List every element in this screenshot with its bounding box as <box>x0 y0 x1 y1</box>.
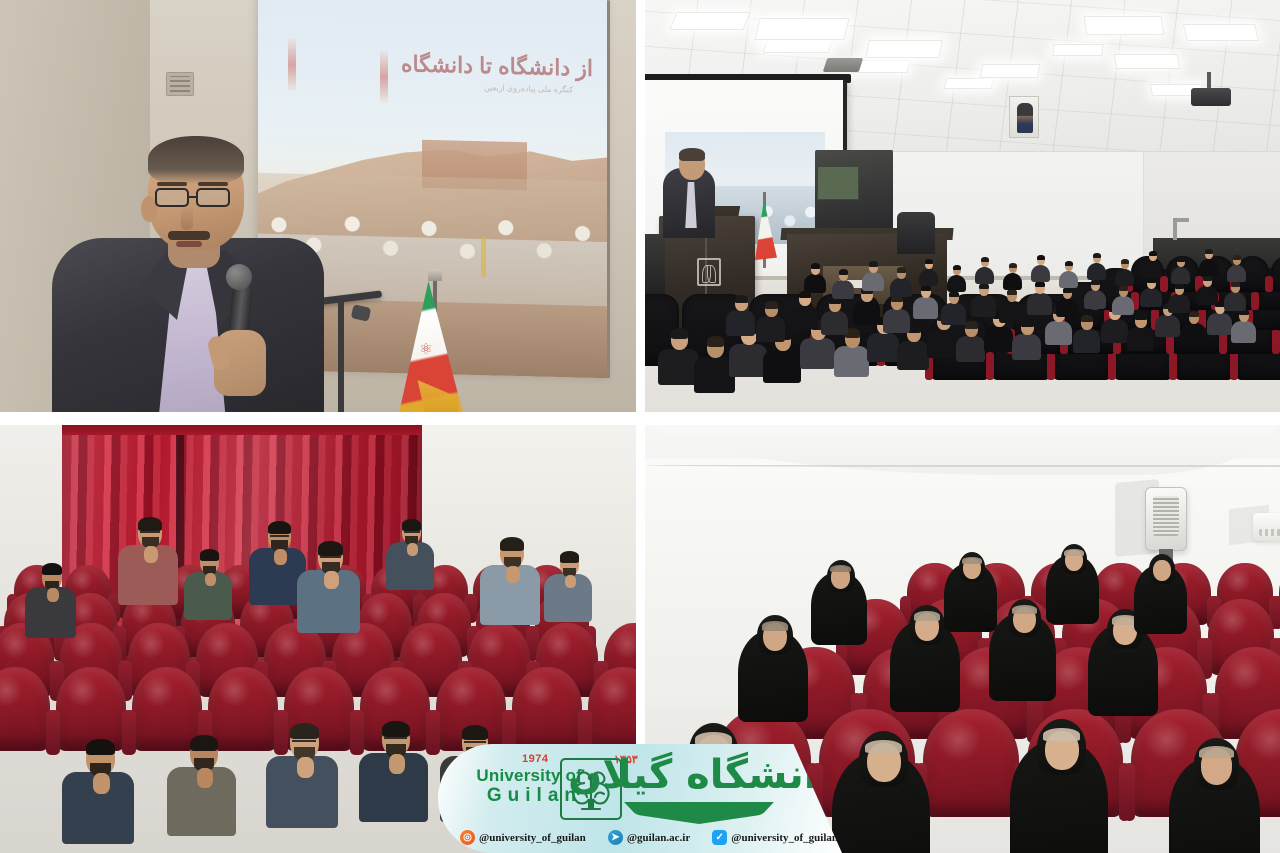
person-hair <box>1037 255 1045 260</box>
seat-armrest <box>986 352 994 380</box>
person-hair <box>1147 277 1156 283</box>
instagram-handle: @university_of_guilan <box>479 832 586 844</box>
auditorium-seat <box>0 667 50 751</box>
seat-highlight <box>446 674 478 708</box>
seat-armrest-left <box>277 710 288 755</box>
speaker-glasses-left <box>155 188 189 207</box>
person-hair <box>86 739 115 756</box>
person-hair <box>1233 255 1241 260</box>
person-torso <box>853 301 880 325</box>
person-hair <box>560 551 579 562</box>
iran-flag-finial <box>428 269 442 281</box>
seat-highlight <box>137 629 166 659</box>
person-hair <box>765 301 778 309</box>
headscarf-band <box>695 732 732 745</box>
person-torso <box>1101 319 1128 343</box>
speaker-glasses-right <box>196 188 230 207</box>
seat-highlight <box>142 674 174 708</box>
person-torso <box>862 272 884 291</box>
microphone-stand-pole <box>338 300 344 412</box>
podium-emblem <box>697 258 721 286</box>
ceiling-light <box>1183 24 1259 41</box>
seat-highlight <box>598 674 630 708</box>
person-torso <box>1155 315 1179 337</box>
person-hair <box>462 725 488 740</box>
person-hair <box>707 336 724 347</box>
person-glasses <box>320 556 341 561</box>
ceiling-light <box>762 38 833 53</box>
equipment-case <box>817 166 859 200</box>
person-torso <box>1112 296 1134 315</box>
seat-highlight <box>1144 718 1188 761</box>
seat-armrest <box>1251 292 1259 310</box>
person-hair <box>965 321 978 329</box>
person-torso <box>1168 294 1190 313</box>
person-torso <box>956 336 986 362</box>
photo-top-left: از دانشگاه تا دانشگاه کنگره ملی پیاده‌رو… <box>0 0 636 412</box>
person-hair <box>42 563 62 575</box>
person-torso <box>1127 327 1154 351</box>
person-hair <box>1177 257 1185 262</box>
social-telegram[interactable]: ➤ @guilan.ac.ir <box>608 830 690 845</box>
person-hand <box>389 754 405 774</box>
person-torso <box>984 326 1014 352</box>
person-hair <box>402 519 421 530</box>
person-hand <box>565 575 576 589</box>
seat-highlight <box>409 629 438 659</box>
person-hair <box>1065 261 1073 266</box>
person-hair <box>1035 281 1045 287</box>
person-torso <box>1087 263 1106 280</box>
person-torso <box>800 338 835 369</box>
person-hand <box>205 573 216 587</box>
person-torso <box>1231 321 1255 343</box>
seat-highlight <box>205 629 234 659</box>
person-torso <box>756 316 786 342</box>
person-torso <box>834 346 869 377</box>
person-hair <box>1091 279 1100 285</box>
person-torso <box>1115 269 1134 286</box>
person-torso <box>821 311 848 335</box>
seat-highlight <box>273 629 302 659</box>
person-torso <box>913 297 937 319</box>
person-torso <box>729 344 767 378</box>
person-torso <box>832 280 854 299</box>
person-torso <box>999 301 1023 323</box>
person-torso <box>1224 292 1246 311</box>
headscarf-band <box>865 740 902 753</box>
person-hair <box>318 541 343 556</box>
ceiling-light <box>754 18 849 40</box>
ceiling-light <box>669 12 750 30</box>
seat-armrest <box>1047 352 1055 380</box>
seat-highlight <box>1225 568 1251 593</box>
twitter-handle: @university_of_guilan <box>731 832 838 844</box>
instagram-icon: ◎ <box>460 830 475 845</box>
person-hair <box>1119 285 1128 291</box>
slide-yellow-banner <box>481 237 486 277</box>
person-torso <box>1199 259 1218 276</box>
person-hair <box>290 723 319 740</box>
person-glasses <box>384 737 407 743</box>
person-hair <box>500 537 524 551</box>
wall-speaker <box>1145 487 1187 551</box>
speaker-nose <box>181 206 193 230</box>
person-hair <box>869 261 878 267</box>
person-hair <box>1175 283 1184 289</box>
person-torso <box>947 275 966 292</box>
auditorium-seat <box>588 667 636 751</box>
person-torso <box>763 350 801 384</box>
person-hair <box>897 267 906 273</box>
person-torso <box>1181 323 1205 345</box>
person-torso <box>1031 265 1050 282</box>
seat-armrest-left <box>125 710 136 755</box>
person-hair <box>1063 287 1072 293</box>
air-conditioner-unit <box>1253 513 1280 541</box>
headscarf-band <box>1012 605 1037 614</box>
ceiling-light <box>1052 44 1103 56</box>
seat-highlight <box>1217 605 1247 635</box>
seat-highlight <box>370 674 402 708</box>
person-hair <box>268 521 291 534</box>
speaker-glasses-bridge <box>189 196 196 198</box>
person-torso <box>1056 298 1078 317</box>
seat-armrest <box>1169 352 1177 380</box>
headscarf-band <box>1199 746 1233 758</box>
person-hair <box>1121 259 1129 264</box>
person-hair <box>1203 275 1212 281</box>
social-twitter[interactable]: ✓ @university_of_guilan <box>712 830 838 845</box>
person-hand <box>93 773 110 793</box>
person-torso <box>726 310 756 336</box>
person-hair <box>1205 249 1213 254</box>
person-torso <box>883 309 910 333</box>
person-hair <box>1231 281 1240 287</box>
person-hair <box>979 283 989 289</box>
ceiling-air-diffuser <box>823 58 864 72</box>
person-hair <box>839 269 848 275</box>
person-hair <box>671 328 688 339</box>
ceiling-light <box>980 64 1040 78</box>
person-hand <box>47 588 59 602</box>
ceiling-projector <box>1191 88 1231 106</box>
social-handles: ◎ @university_of_guilan ➤ @guilan.ac.ir … <box>460 830 828 845</box>
headscarf-band <box>762 621 788 631</box>
person-hair <box>949 291 959 297</box>
person-glasses <box>140 531 160 536</box>
speaker-eyebrow-right <box>198 182 228 186</box>
person-hand <box>324 571 339 589</box>
social-instagram[interactable]: ◎ @university_of_guilan <box>460 830 586 845</box>
auditorium-seat <box>56 667 126 751</box>
wall-vent <box>166 72 194 96</box>
audience-seating-area <box>645 300 1280 412</box>
ceiling-light <box>1084 16 1165 35</box>
telegram-icon: ➤ <box>608 830 623 845</box>
seat-highlight <box>71 569 92 591</box>
speaker-hair <box>148 136 244 184</box>
curtain-valance <box>62 425 422 435</box>
founding-year-gregorian: 1974 <box>522 753 548 765</box>
person-torso <box>1207 313 1231 335</box>
seat-highlight <box>522 674 554 708</box>
person-hair <box>953 265 961 270</box>
person-hair <box>1149 251 1157 256</box>
person-hair <box>138 517 162 531</box>
person-glasses <box>292 740 316 746</box>
seat-armrest-left <box>49 710 60 755</box>
person-torso <box>1027 293 1051 315</box>
person-torso <box>804 274 826 293</box>
headscarf-band <box>962 557 982 564</box>
person-hand <box>506 566 520 583</box>
person-hair <box>1189 311 1199 317</box>
person-hand <box>407 543 418 557</box>
speaker-eyebrow-left <box>157 182 187 186</box>
person-hair <box>382 721 410 737</box>
person-torso <box>919 269 938 286</box>
seat-highlight <box>915 568 941 593</box>
floor-monitor-speaker <box>645 234 665 300</box>
person-hair <box>925 259 933 264</box>
person-torso <box>1045 321 1072 345</box>
ceiling-light <box>943 78 994 89</box>
seat-armrest <box>1272 329 1280 354</box>
headscarf-band <box>1152 559 1172 566</box>
seat-highlight <box>1101 568 1127 593</box>
person-torso <box>867 333 899 362</box>
person-torso <box>1012 334 1042 360</box>
stage-chair <box>897 212 935 254</box>
person-torso <box>941 303 965 325</box>
person-torso <box>975 267 994 284</box>
person-torso <box>1003 273 1022 290</box>
headscarf-band <box>830 565 851 573</box>
seat-highlight <box>545 629 574 659</box>
auditorium-seat <box>923 709 1019 817</box>
seat-armrest-left <box>353 710 364 755</box>
ceiling-light <box>865 40 943 58</box>
podium-speaker-hair <box>679 148 705 161</box>
person-torso <box>971 295 995 317</box>
person-glasses <box>270 535 289 540</box>
telegram-handle: @guilan.ac.ir <box>627 832 690 844</box>
speaker-mouth <box>176 241 202 247</box>
seat-highlight <box>341 629 370 659</box>
person-torso <box>1059 271 1078 288</box>
seat-highlight <box>613 629 636 659</box>
person-torso <box>791 305 818 329</box>
person-hair <box>190 735 218 751</box>
person-torso <box>1084 290 1106 309</box>
photo-top-right <box>645 0 1280 412</box>
speaker-mustache <box>168 231 210 240</box>
seat-armrest <box>1108 352 1116 380</box>
seat-armrest <box>1265 276 1273 292</box>
handheld-microphone-head <box>226 264 252 290</box>
iran-flag-emblem: ⚛ <box>414 340 438 360</box>
person-hair <box>1081 315 1093 322</box>
person-hand <box>197 768 213 788</box>
seat-highlight <box>936 718 980 761</box>
seat-armrest <box>1230 352 1238 380</box>
seat-highlight <box>425 598 450 624</box>
seat-highlight <box>294 674 326 708</box>
person-torso <box>927 329 959 358</box>
seat-highlight <box>477 629 506 659</box>
person-torso <box>1196 286 1218 305</box>
seat-highlight <box>1226 654 1263 691</box>
person-torso <box>1171 267 1190 284</box>
person-torso <box>890 278 912 297</box>
university-logo-banner: 1974 ۱۳۵۳ University of Guilan <box>438 744 842 853</box>
person-torso <box>658 349 699 385</box>
headscarf-band <box>1064 549 1084 556</box>
person-hair <box>735 295 748 303</box>
seat-highlight <box>66 674 98 708</box>
person-torso <box>1143 261 1162 278</box>
person-torso <box>897 341 929 370</box>
person-torso <box>1073 329 1100 353</box>
ceiling-light <box>1114 54 1181 69</box>
seat-armrest <box>1160 276 1168 292</box>
seat-armrest-left <box>1124 763 1135 821</box>
person-hair <box>811 263 820 269</box>
person-torso <box>1140 288 1162 307</box>
person-hair <box>1009 263 1017 268</box>
person-hair <box>921 285 931 291</box>
headscarf-band <box>914 611 940 621</box>
headscarf-band <box>1043 728 1080 741</box>
person-hair <box>981 257 989 262</box>
seat-highlight <box>366 598 391 624</box>
seat-highlight <box>1248 718 1280 761</box>
person-hand <box>274 549 287 565</box>
person-hair <box>1135 313 1147 320</box>
person-hand <box>144 546 158 563</box>
wall-portrait <box>1009 96 1039 138</box>
auditorium-seat <box>512 667 582 751</box>
person-hand <box>297 757 314 777</box>
counter-faucet <box>1173 218 1177 240</box>
auditorium-seat <box>1271 256 1280 292</box>
person-hair <box>1007 289 1017 295</box>
person-torso <box>1227 265 1246 282</box>
person-glasses <box>404 531 420 535</box>
person-hair <box>1093 253 1101 258</box>
seat-highlight <box>218 674 250 708</box>
twitter-icon: ✓ <box>712 830 727 845</box>
auditorium-seat <box>208 667 278 751</box>
person-hair <box>200 549 219 560</box>
photo-collage: از دانشگاه تا دانشگاه کنگره ملی پیاده‌رو… <box>0 0 1280 853</box>
